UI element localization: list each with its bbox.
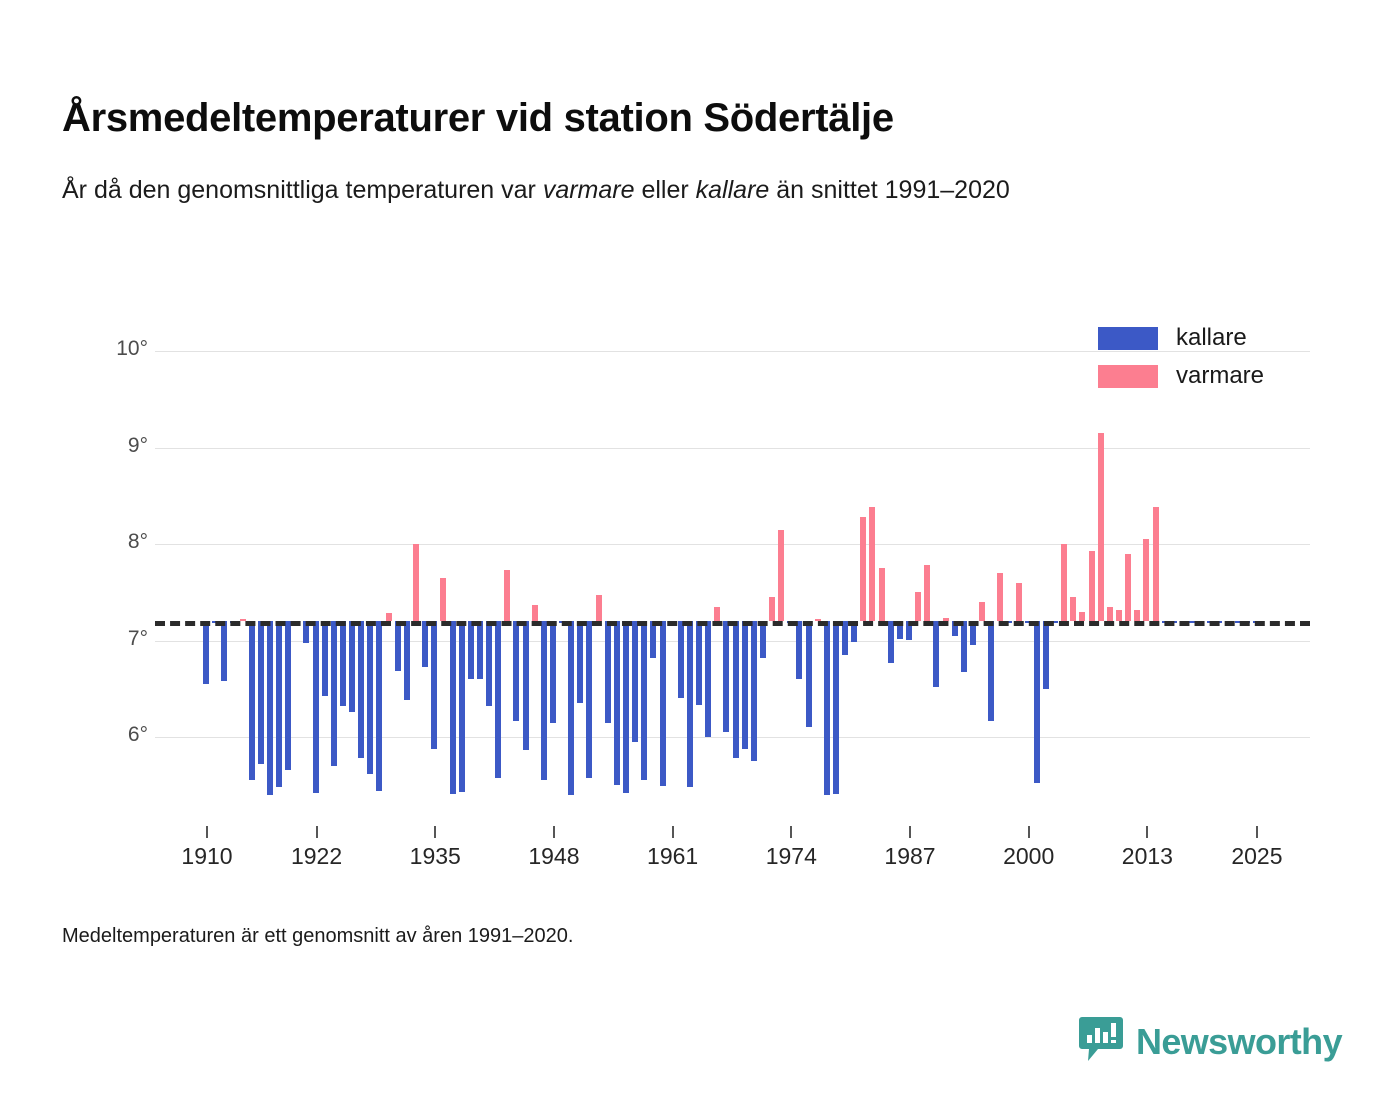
bar-1950[interactable]	[568, 621, 574, 795]
legend-item-kallare[interactable]: kallare	[1098, 326, 1264, 350]
bar-1982[interactable]	[860, 517, 866, 621]
bar-1919[interactable]	[285, 621, 291, 770]
average-baseline	[155, 621, 1310, 626]
footnote: Medeltemperaturen är ett genomsnitt av å…	[62, 925, 573, 948]
bar-1969[interactable]	[742, 621, 748, 748]
x-tick-1910	[206, 826, 208, 838]
bar-1915[interactable]	[249, 621, 255, 780]
bar-1917[interactable]	[267, 621, 273, 795]
bar-2005[interactable]	[1070, 597, 1076, 621]
bar-2009[interactable]	[1107, 607, 1113, 621]
bar-1935[interactable]	[431, 621, 437, 748]
bar-1924[interactable]	[331, 621, 337, 766]
bar-1937[interactable]	[450, 621, 456, 794]
bar-1946[interactable]	[532, 605, 538, 621]
bar-1985[interactable]	[888, 621, 894, 662]
bar-2011[interactable]	[1125, 554, 1131, 622]
bar-1952[interactable]	[586, 621, 592, 777]
y-tick-label-8: 8°	[78, 530, 148, 554]
bar-chart: 6°7°8°9°10° 1910192219351948196119741987…	[0, 0, 1400, 1116]
x-tick-label-1961: 1961	[628, 843, 718, 870]
bar-1941[interactable]	[486, 621, 492, 706]
bar-1912[interactable]	[221, 621, 227, 681]
gridline-8	[155, 544, 1310, 545]
bar-1993[interactable]	[961, 621, 967, 672]
bar-1990[interactable]	[933, 621, 939, 687]
bar-1973[interactable]	[778, 530, 784, 622]
bar-1984[interactable]	[879, 568, 885, 621]
bar-1999[interactable]	[1016, 583, 1022, 622]
legend-item-varmare[interactable]: varmare	[1098, 364, 1264, 388]
bar-1953[interactable]	[596, 595, 602, 621]
legend-label-kallare: kallare	[1176, 326, 1247, 350]
bar-2008[interactable]	[1098, 433, 1104, 621]
bar-2002[interactable]	[1043, 621, 1049, 689]
chart-legend: kallarevarmare	[1098, 326, 1264, 388]
bar-2001[interactable]	[1034, 621, 1040, 783]
bar-1954[interactable]	[605, 621, 611, 723]
bar-1918[interactable]	[276, 621, 282, 787]
bar-1962[interactable]	[678, 621, 684, 698]
bar-1958[interactable]	[641, 621, 647, 780]
bar-1964[interactable]	[696, 621, 702, 705]
bar-1939[interactable]	[468, 621, 474, 679]
x-tick-1987	[909, 826, 911, 838]
x-tick-2025	[1256, 826, 1258, 838]
y-tick-label-7: 7°	[78, 627, 148, 651]
bar-1980[interactable]	[842, 621, 848, 655]
bar-1960[interactable]	[660, 621, 666, 786]
bar-1922[interactable]	[313, 621, 319, 793]
bar-1925[interactable]	[340, 621, 346, 706]
x-tick-1961	[672, 826, 674, 838]
bar-1988[interactable]	[915, 592, 921, 621]
bar-2007[interactable]	[1089, 551, 1095, 621]
x-tick-label-2000: 2000	[984, 843, 1074, 870]
bar-1936[interactable]	[440, 578, 446, 621]
bar-1947[interactable]	[541, 621, 547, 780]
bar-1926[interactable]	[349, 621, 355, 712]
bar-1963[interactable]	[687, 621, 693, 787]
bar-2006[interactable]	[1079, 612, 1085, 622]
y-tick-label-9: 9°	[78, 434, 148, 458]
x-tick-label-1922: 1922	[272, 843, 362, 870]
bar-1997[interactable]	[997, 573, 1003, 621]
x-tick-2013	[1146, 826, 1148, 838]
bar-1948[interactable]	[550, 621, 556, 722]
bar-1967[interactable]	[723, 621, 729, 732]
bar-1945[interactable]	[523, 621, 529, 749]
y-tick-label-6: 6°	[78, 723, 148, 747]
bar-1976[interactable]	[806, 621, 812, 727]
bar-1966[interactable]	[714, 607, 720, 621]
bar-1995[interactable]	[979, 602, 985, 621]
bar-1956[interactable]	[623, 621, 629, 793]
bar-1968[interactable]	[733, 621, 739, 758]
bar-1972[interactable]	[769, 597, 775, 621]
bar-1938[interactable]	[459, 621, 465, 792]
bar-1959[interactable]	[650, 621, 656, 658]
bar-1934[interactable]	[422, 621, 428, 666]
bar-1979[interactable]	[833, 621, 839, 794]
bar-1970[interactable]	[751, 621, 757, 761]
bar-1951[interactable]	[577, 621, 583, 703]
legend-swatch-varmare	[1098, 365, 1158, 388]
bar-chart-speech-bubble-icon	[1078, 1015, 1124, 1068]
x-tick-label-1974: 1974	[746, 843, 836, 870]
bar-1955[interactable]	[614, 621, 620, 785]
bar-1978[interactable]	[824, 621, 830, 795]
bar-2014[interactable]	[1153, 507, 1159, 621]
legend-swatch-kallare	[1098, 327, 1158, 350]
x-tick-label-1948: 1948	[509, 843, 599, 870]
x-tick-label-1987: 1987	[865, 843, 955, 870]
bar-1931[interactable]	[395, 621, 401, 671]
bar-1930[interactable]	[386, 613, 392, 621]
bar-1971[interactable]	[760, 621, 766, 658]
x-tick-2000	[1028, 826, 1030, 838]
bar-1923[interactable]	[322, 621, 328, 696]
bar-1957[interactable]	[632, 621, 638, 742]
bar-1983[interactable]	[869, 507, 875, 621]
bar-1910[interactable]	[203, 621, 209, 684]
brand-name: Newsworthy	[1136, 1021, 1342, 1063]
bar-1975[interactable]	[796, 621, 802, 679]
legend-label-varmare: varmare	[1176, 364, 1264, 388]
x-tick-1948	[553, 826, 555, 838]
x-tick-label-2025: 2025	[1212, 843, 1302, 870]
brand-logo: Newsworthy	[1078, 1015, 1342, 1068]
bar-1932[interactable]	[404, 621, 410, 700]
x-tick-1974	[790, 826, 792, 838]
bar-1929[interactable]	[376, 621, 382, 791]
bar-1965[interactable]	[705, 621, 711, 737]
bar-1943[interactable]	[504, 570, 510, 621]
bar-1933[interactable]	[413, 544, 419, 621]
x-tick-1935	[434, 826, 436, 838]
bar-1940[interactable]	[477, 621, 483, 679]
bar-1996[interactable]	[988, 621, 994, 720]
bar-1942[interactable]	[495, 621, 501, 777]
x-tick-1922	[316, 826, 318, 838]
bar-2010[interactable]	[1116, 610, 1122, 622]
bar-2012[interactable]	[1134, 610, 1140, 622]
bar-1989[interactable]	[924, 565, 930, 621]
x-tick-label-1935: 1935	[390, 843, 480, 870]
bar-1944[interactable]	[513, 621, 519, 720]
bar-1927[interactable]	[358, 621, 364, 758]
chart-page: Årsmedeltemperaturer vid station Södertä…	[0, 0, 1400, 1116]
bar-2004[interactable]	[1061, 544, 1067, 621]
x-tick-label-2013: 2013	[1102, 843, 1192, 870]
bar-1916[interactable]	[258, 621, 264, 764]
gridline-9	[155, 448, 1310, 449]
bar-2013[interactable]	[1143, 539, 1149, 621]
bar-1928[interactable]	[367, 621, 373, 773]
x-tick-label-1910: 1910	[162, 843, 252, 870]
y-tick-label-10: 10°	[78, 337, 148, 361]
